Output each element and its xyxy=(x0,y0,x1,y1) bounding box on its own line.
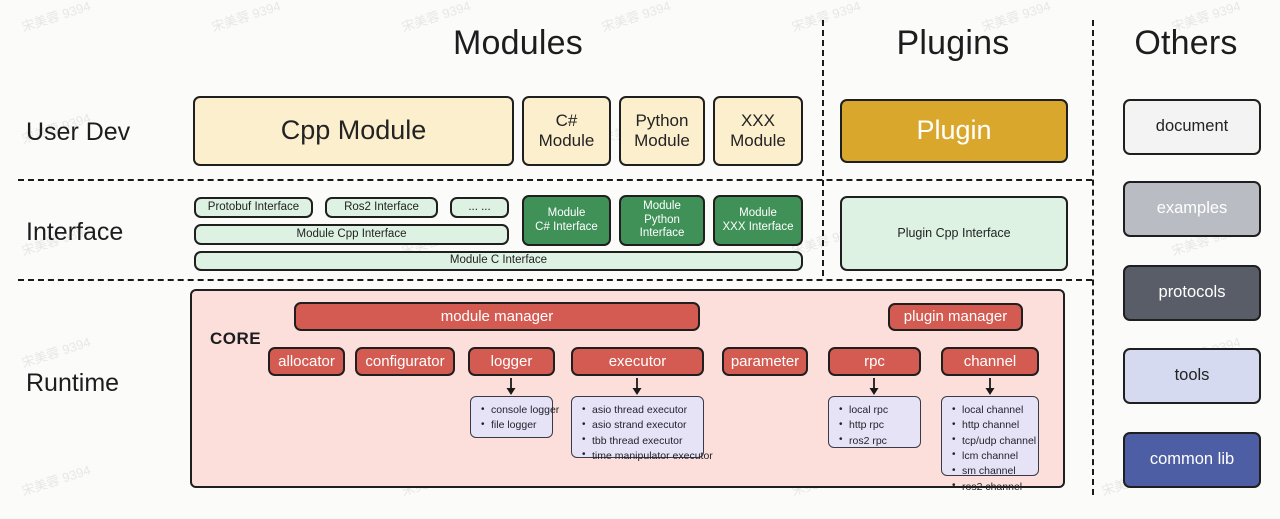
details-channel: local channel http channel tcp/udp chann… xyxy=(941,396,1039,476)
column-title-plugins: Plugins xyxy=(843,24,1063,63)
arrow-channel-to-details xyxy=(983,378,997,396)
node-examples[interactable]: examples xyxy=(1123,181,1261,237)
node-cpp-module[interactable]: Cpp Module xyxy=(193,96,514,166)
arrow-logger-to-details xyxy=(504,378,518,396)
architecture-diagram: 宋美蓉 9394 宋美蓉 9394 宋美蓉 9394 宋美蓉 9394 宋美蓉 … xyxy=(0,0,1280,519)
list-item: sm channel xyxy=(962,464,1030,479)
list-item: tcp/udp channel xyxy=(962,434,1030,449)
node-tools[interactable]: tools xyxy=(1123,348,1261,404)
node-ros2-interface[interactable]: Ros2 Interface xyxy=(325,197,438,218)
list-item: lcm channel xyxy=(962,449,1030,464)
separator-plugins-others xyxy=(1092,20,1094,495)
details-logger-list: console logger file logger xyxy=(477,403,544,434)
node-module-manager[interactable]: module manager xyxy=(294,302,700,331)
column-title-modules: Modules xyxy=(398,24,638,63)
list-item: file logger xyxy=(491,418,544,433)
node-module-python-interface[interactable]: Module Python Interface xyxy=(619,195,705,246)
list-item: asio thread executor xyxy=(592,403,695,418)
arrow-rpc-to-details xyxy=(867,378,881,396)
list-item: local rpc xyxy=(849,403,912,418)
row-label-interface: Interface xyxy=(26,218,123,247)
node-common-lib[interactable]: common lib xyxy=(1123,432,1261,488)
watermark: 宋美蓉 9394 xyxy=(19,0,93,36)
list-item: http rpc xyxy=(849,418,912,433)
node-more-interface[interactable]: ... ... xyxy=(450,197,509,218)
node-plugin[interactable]: Plugin xyxy=(840,99,1068,163)
details-rpc: local rpc http rpc ros2 rpc xyxy=(828,396,921,448)
column-title-others: Others xyxy=(1092,24,1280,63)
node-allocator[interactable]: allocator xyxy=(268,347,345,376)
node-protobuf-interface[interactable]: Protobuf Interface xyxy=(194,197,313,218)
list-item: local channel xyxy=(962,403,1030,418)
separator-user-dev-interface xyxy=(18,179,1092,181)
details-rpc-list: local rpc http rpc ros2 rpc xyxy=(835,403,912,449)
details-executor-list: asio thread executor asio strand executo… xyxy=(578,403,695,464)
node-executor[interactable]: executor xyxy=(571,347,704,376)
node-logger[interactable]: logger xyxy=(468,347,555,376)
arrow-executor-to-details xyxy=(630,378,644,396)
list-item: http channel xyxy=(962,418,1030,433)
node-module-csharp-interface[interactable]: Module C# Interface xyxy=(522,195,611,246)
node-channel[interactable]: channel xyxy=(941,347,1039,376)
list-item: ros2 rpc xyxy=(849,434,912,449)
list-item: time manipulator executor xyxy=(592,449,695,464)
node-rpc[interactable]: rpc xyxy=(828,347,921,376)
node-plugin-cpp-interface[interactable]: Plugin Cpp Interface xyxy=(840,196,1068,271)
list-item: asio strand executor xyxy=(592,418,695,433)
list-item: ros2 channel xyxy=(962,480,1030,495)
node-python-module[interactable]: Python Module xyxy=(619,96,705,166)
details-channel-list: local channel http channel tcp/udp chann… xyxy=(948,403,1030,495)
node-protocols[interactable]: protocols xyxy=(1123,265,1261,321)
node-csharp-module[interactable]: C# Module xyxy=(522,96,611,166)
node-module-xxx-interface[interactable]: Module XXX Interface xyxy=(713,195,803,246)
core-label: CORE xyxy=(210,329,261,349)
row-label-user-dev: User Dev xyxy=(26,118,130,147)
row-label-runtime: Runtime xyxy=(26,369,119,398)
node-parameter[interactable]: parameter xyxy=(722,347,808,376)
separator-modules-plugins xyxy=(822,20,824,276)
node-module-cpp-interface[interactable]: Module Cpp Interface xyxy=(194,224,509,245)
watermark: 宋美蓉 9394 xyxy=(19,459,93,499)
list-item: console logger xyxy=(491,403,544,418)
list-item: tbb thread executor xyxy=(592,434,695,449)
node-configurator[interactable]: configurator xyxy=(355,347,455,376)
node-plugin-manager[interactable]: plugin manager xyxy=(888,303,1023,331)
node-xxx-module[interactable]: XXX Module xyxy=(713,96,803,166)
watermark: 宋美蓉 9394 xyxy=(209,0,283,36)
separator-interface-runtime xyxy=(18,279,1092,281)
node-document[interactable]: document xyxy=(1123,99,1261,155)
watermark: 宋美蓉 9394 xyxy=(19,331,93,371)
details-executor: asio thread executor asio strand executo… xyxy=(571,396,704,458)
node-module-c-interface[interactable]: Module C Interface xyxy=(194,251,803,271)
details-logger: console logger file logger xyxy=(470,396,553,438)
